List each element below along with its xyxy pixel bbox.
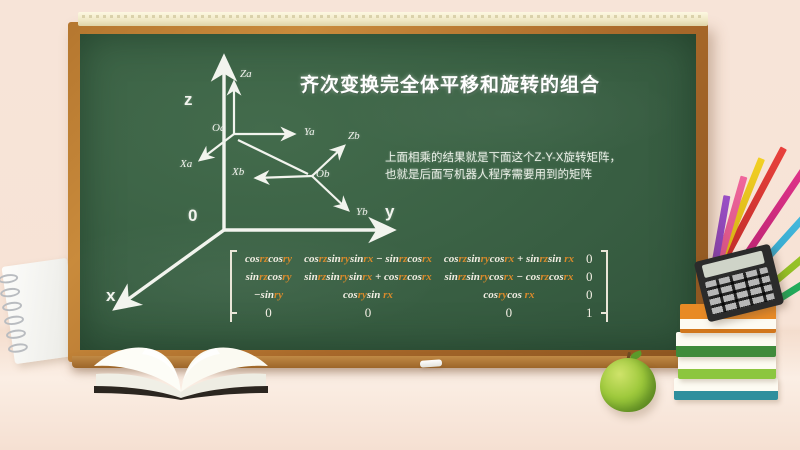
matrix-subscript: ry bbox=[282, 271, 291, 283]
matrix-cell: 1 bbox=[580, 304, 599, 322]
matrix-term: sin bbox=[349, 271, 362, 283]
matrix-subscript: rx bbox=[525, 289, 535, 301]
matrix-subscript: ry bbox=[481, 253, 490, 265]
matrix-cell: 0 bbox=[580, 250, 599, 268]
matrix-cell: sinrzsinrycosrx − cosrzcosrx bbox=[438, 268, 580, 286]
page-title: 齐次变换完全体平移和旋转的组合 bbox=[240, 70, 660, 97]
matrix-cell: 0 bbox=[438, 304, 580, 322]
matrix-term: cos bbox=[407, 253, 422, 265]
frame-b-y-label: Yb bbox=[356, 206, 368, 218]
classroom-scene: z y x 0 Oa Za Ya Xa Ob Zb Yb Xb 齐次变换完全体平… bbox=[0, 0, 800, 450]
matrix-cell: cosrycos rx bbox=[438, 286, 580, 304]
matrix-term: + bbox=[372, 271, 384, 283]
matrix-term: sin bbox=[326, 271, 339, 283]
matrix-cell: cosrzsinrycosrx + sinrzsin rx bbox=[438, 250, 580, 268]
world-origin-label: 0 bbox=[188, 206, 197, 226]
matrix-term: sin bbox=[466, 271, 479, 283]
matrix-term: cos bbox=[407, 271, 422, 283]
green-apple bbox=[600, 358, 656, 412]
matrix-subscript: rx bbox=[504, 253, 514, 265]
matrix-term: cos bbox=[304, 253, 319, 265]
frame-a-y-label: Ya bbox=[304, 126, 315, 138]
spiral-ring bbox=[4, 314, 25, 326]
matrix-cell: 0 bbox=[239, 304, 298, 322]
matrix-term: cos bbox=[444, 253, 459, 265]
matrix-term: sin bbox=[350, 253, 363, 265]
matrix-cell: 0 bbox=[580, 268, 599, 286]
matrix-subscript: rx bbox=[363, 253, 373, 265]
matrix-subscript: ry bbox=[498, 289, 507, 301]
matrix-bracket-left bbox=[230, 250, 239, 322]
matrix-row: −sinrycosrysin rxcosrycos rx0 bbox=[239, 286, 599, 304]
axis-label-y: y bbox=[385, 202, 394, 222]
matrix-subscript: ry bbox=[358, 289, 367, 301]
matrix-subscript: ry bbox=[283, 253, 292, 265]
matrix-subscript: ry bbox=[340, 271, 349, 283]
rotation-matrix: cosrzcosrycosrzsinrysinrx − sinrzcosrxco… bbox=[230, 250, 608, 322]
matrix-term: sin bbox=[246, 271, 259, 283]
chalkboard: z y x 0 Oa Za Ya Xa Ob Zb Yb Xb 齐次变换完全体平… bbox=[80, 34, 696, 350]
matrix-bracket-right bbox=[599, 250, 608, 322]
book-green-light bbox=[678, 356, 776, 379]
matrix-subscript: rz bbox=[318, 271, 327, 283]
matrix-cell: sinrzsinrysinrx + cosrzcosrx bbox=[298, 268, 438, 286]
matrix-term: cos bbox=[268, 271, 283, 283]
matrix-term: −sin bbox=[254, 289, 274, 301]
matrix-subscript: rz bbox=[539, 253, 548, 265]
chalkboard-top-rail bbox=[78, 12, 708, 26]
matrix-subscript: rz bbox=[399, 271, 408, 283]
matrix-cell: −sinry bbox=[239, 286, 298, 304]
spiral-ring bbox=[0, 273, 19, 285]
matrix-term: 0 bbox=[365, 305, 372, 320]
matrix-subscript: ry bbox=[274, 289, 283, 301]
matrix-term: − bbox=[373, 253, 385, 265]
matrix-subscript: rx bbox=[564, 253, 574, 265]
matrix-subscript: rx bbox=[383, 289, 393, 301]
spiral-ring bbox=[0, 287, 21, 299]
matrix-term: cos bbox=[489, 271, 504, 283]
matrix-term: cos bbox=[507, 289, 524, 301]
matrix-row: 0001 bbox=[239, 304, 599, 322]
matrix-row: sinrzcosrysinrzsinrysinrx + cosrzcosrxsi… bbox=[239, 268, 599, 286]
matrix-subscript: rx bbox=[422, 253, 432, 265]
matrix-subscript: rz bbox=[459, 253, 468, 265]
axis-label-z: z bbox=[184, 90, 193, 110]
matrix-term: sin bbox=[385, 253, 398, 265]
matrix-cell: 0 bbox=[298, 304, 438, 322]
matrix-subscript: ry bbox=[480, 271, 489, 283]
matrix-subscript: rx bbox=[362, 271, 372, 283]
matrix-subscript: rz bbox=[259, 271, 268, 283]
matrix-term: 0 bbox=[506, 305, 513, 320]
note-text: 上面相乘的结果就是下面这个Z-Y-X旋转矩阵， 也就是后面写机器人程序需要用到的… bbox=[385, 150, 685, 184]
matrix-cell: cosrzsinrysinrx − sinrzcosrx bbox=[298, 250, 438, 268]
matrix-term: cos bbox=[343, 289, 358, 301]
matrix-term: cos bbox=[483, 289, 498, 301]
matrix-subscript: rx bbox=[504, 271, 514, 283]
matrix-term: sin bbox=[367, 289, 383, 301]
book-green-dark bbox=[676, 332, 776, 357]
matrix-term: sin bbox=[327, 253, 340, 265]
matrix-subscript: rx bbox=[564, 271, 574, 283]
matrix-term: cos bbox=[268, 253, 283, 265]
matrix-term: cos bbox=[549, 271, 564, 283]
matrix-subscript: rz bbox=[260, 253, 269, 265]
frame-a-x-label: Xa bbox=[180, 158, 192, 170]
book-teal bbox=[674, 378, 778, 400]
matrix-term: + bbox=[514, 253, 526, 265]
matrix-term: cos bbox=[384, 271, 399, 283]
frame-a-origin-label: Oa bbox=[212, 122, 225, 134]
axis-label-x: x bbox=[106, 286, 115, 306]
note-line-1: 上面相乘的结果就是下面这个Z-Y-X旋转矩阵， bbox=[385, 150, 685, 167]
frame-b-x-label: Xb bbox=[232, 166, 244, 178]
matrix-subscript: rz bbox=[540, 271, 549, 283]
matrix-cell: cosrzcosry bbox=[239, 250, 298, 268]
matrix-term: sin bbox=[304, 271, 317, 283]
matrix-cell: cosrysin rx bbox=[298, 286, 438, 304]
note-line-2: 也就是后面写机器人程序需要用到的矩阵 bbox=[385, 167, 685, 184]
matrix-term: sin bbox=[467, 253, 480, 265]
spiral-ring bbox=[2, 301, 23, 313]
matrix-term: cos bbox=[526, 271, 541, 283]
matrix-term: cos bbox=[490, 253, 505, 265]
matrix-subscript: ry bbox=[341, 253, 350, 265]
matrix-row: cosrzcosrycosrzsinrysinrx − sinrzcosrxco… bbox=[239, 250, 599, 268]
matrix-term: cos bbox=[245, 253, 260, 265]
frame-b-z-label: Zb bbox=[348, 130, 360, 142]
matrix-table: cosrzcosrycosrzsinrysinrx − sinrzcosrxco… bbox=[239, 250, 599, 322]
matrix-subscript: rx bbox=[422, 271, 432, 283]
matrix-term: 0 bbox=[265, 305, 272, 320]
matrix-cell: 0 bbox=[580, 286, 599, 304]
matrix-term: sin bbox=[444, 271, 457, 283]
matrix-term: sin bbox=[526, 253, 539, 265]
frame-b-origin-label: Ob bbox=[316, 168, 329, 180]
matrix-term: sin bbox=[548, 253, 564, 265]
matrix-term: − bbox=[514, 271, 526, 283]
open-book bbox=[86, 330, 276, 400]
matrix-cell: sinrzcosry bbox=[239, 268, 298, 286]
